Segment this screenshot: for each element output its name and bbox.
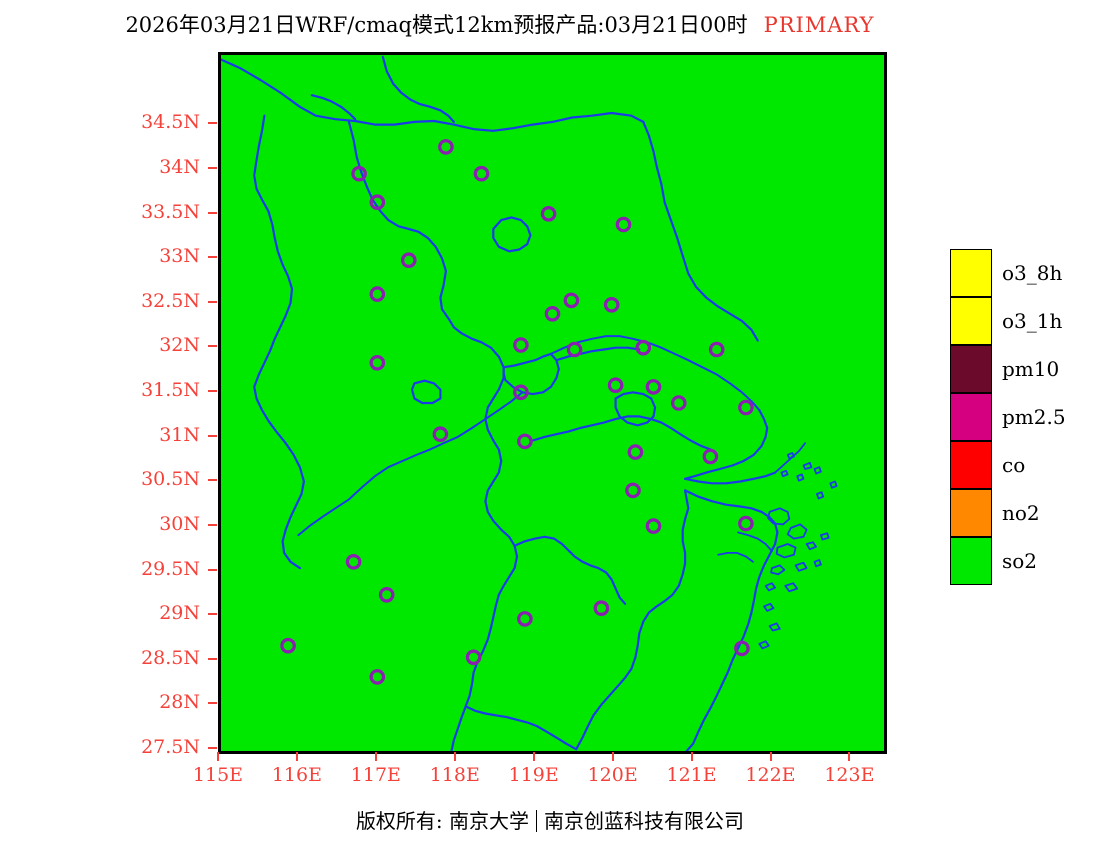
y-axis-tick-mark — [208, 658, 217, 660]
legend-item-label: co — [1002, 454, 1025, 476]
legend-color-swatch — [950, 393, 992, 441]
y-axis-tick-label: 29.5N — [120, 560, 200, 579]
y-axis-tick-label: 27.5N — [120, 738, 200, 757]
y-axis-tick-mark — [208, 390, 217, 392]
y-axis-tick-label: 32.5N — [120, 292, 200, 311]
x-axis-tick-mark — [770, 752, 772, 761]
y-axis-tick-mark — [208, 256, 217, 258]
legend-item-label: no2 — [1002, 502, 1040, 524]
x-axis-tick-label: 118E — [420, 766, 490, 785]
legend-item-label: o3_8h — [1002, 262, 1062, 284]
y-axis-tick-label: 28N — [120, 693, 200, 712]
y-axis-tick-mark — [208, 747, 217, 749]
chart-title: 2026年03月21日WRF/cmaq模式12km预报产品:03月21日00时P… — [0, 12, 1000, 38]
y-axis-tick-mark — [208, 702, 217, 704]
y-axis-tick-label: 30.5N — [120, 470, 200, 489]
y-axis-tick-mark — [208, 301, 217, 303]
y-axis-tick-mark — [208, 212, 217, 214]
y-axis-tick-mark — [208, 524, 217, 526]
y-axis-tick-label: 33.5N — [120, 203, 200, 222]
y-axis-tick-label: 28.5N — [120, 649, 200, 668]
x-axis-tick-label: 119E — [499, 766, 569, 785]
x-axis-tick-mark — [375, 752, 377, 761]
map-canvas — [221, 55, 884, 751]
x-axis-tick-mark — [533, 752, 535, 761]
x-axis-tick-mark — [691, 752, 693, 761]
legend-color-swatch — [950, 489, 992, 537]
y-axis-tick-mark — [208, 569, 217, 571]
map-plot-area — [218, 52, 887, 754]
y-axis-tick-label: 32N — [120, 336, 200, 355]
copyright-footer: 版权所有: 南京大学南京创蓝科技有限公司 — [0, 808, 1100, 834]
y-axis-tick-label: 34.5N — [120, 113, 200, 132]
y-axis-tick-label: 29N — [120, 604, 200, 623]
x-axis-tick-label: 122E — [736, 766, 806, 785]
legend-item-label: o3_1h — [1002, 310, 1062, 332]
legend-item-label: pm10 — [1002, 358, 1059, 380]
y-axis-tick-label: 30N — [120, 515, 200, 534]
legend-color-swatch — [950, 441, 992, 489]
legend-color-swatch — [950, 249, 992, 297]
x-axis-tick-label: 123E — [814, 766, 884, 785]
map-background — [221, 55, 884, 751]
x-axis-tick-label: 117E — [341, 766, 411, 785]
y-axis-tick-mark — [208, 167, 217, 169]
x-axis-tick-label: 115E — [183, 766, 253, 785]
legend-color-swatch — [950, 537, 992, 585]
x-axis-tick-label: 116E — [262, 766, 332, 785]
footer-right-text: 南京创蓝科技有限公司 — [544, 809, 744, 833]
legend-color-swatch — [950, 297, 992, 345]
x-axis-tick-label: 120E — [578, 766, 648, 785]
y-axis-tick-label: 31.5N — [120, 381, 200, 400]
y-axis-tick-mark — [208, 479, 217, 481]
y-axis-tick-label: 31N — [120, 426, 200, 445]
y-axis-tick-mark — [208, 613, 217, 615]
footer-divider — [536, 810, 537, 832]
x-axis-tick-label: 121E — [657, 766, 727, 785]
legend-item-label: so2 — [1002, 550, 1037, 572]
y-axis-tick-label: 34N — [120, 158, 200, 177]
legend-color-swatch — [950, 345, 992, 393]
x-axis-tick-mark — [454, 752, 456, 761]
x-axis-tick-mark — [217, 752, 219, 761]
x-axis-tick-mark — [848, 752, 850, 761]
title-main-text: 2026年03月21日WRF/cmaq模式12km预报产品:03月21日00时 — [125, 13, 747, 37]
y-axis-tick-mark — [208, 435, 217, 437]
x-axis-tick-mark — [296, 752, 298, 761]
y-axis-tick-mark — [208, 345, 217, 347]
footer-left-text: 版权所有: 南京大学 — [356, 809, 529, 833]
y-axis-tick-mark — [208, 122, 217, 124]
y-axis-tick-label: 33N — [120, 247, 200, 266]
legend-item-label: pm2.5 — [1002, 406, 1066, 428]
x-axis-tick-mark — [612, 752, 614, 761]
title-primary-label: PRIMARY — [764, 13, 875, 37]
